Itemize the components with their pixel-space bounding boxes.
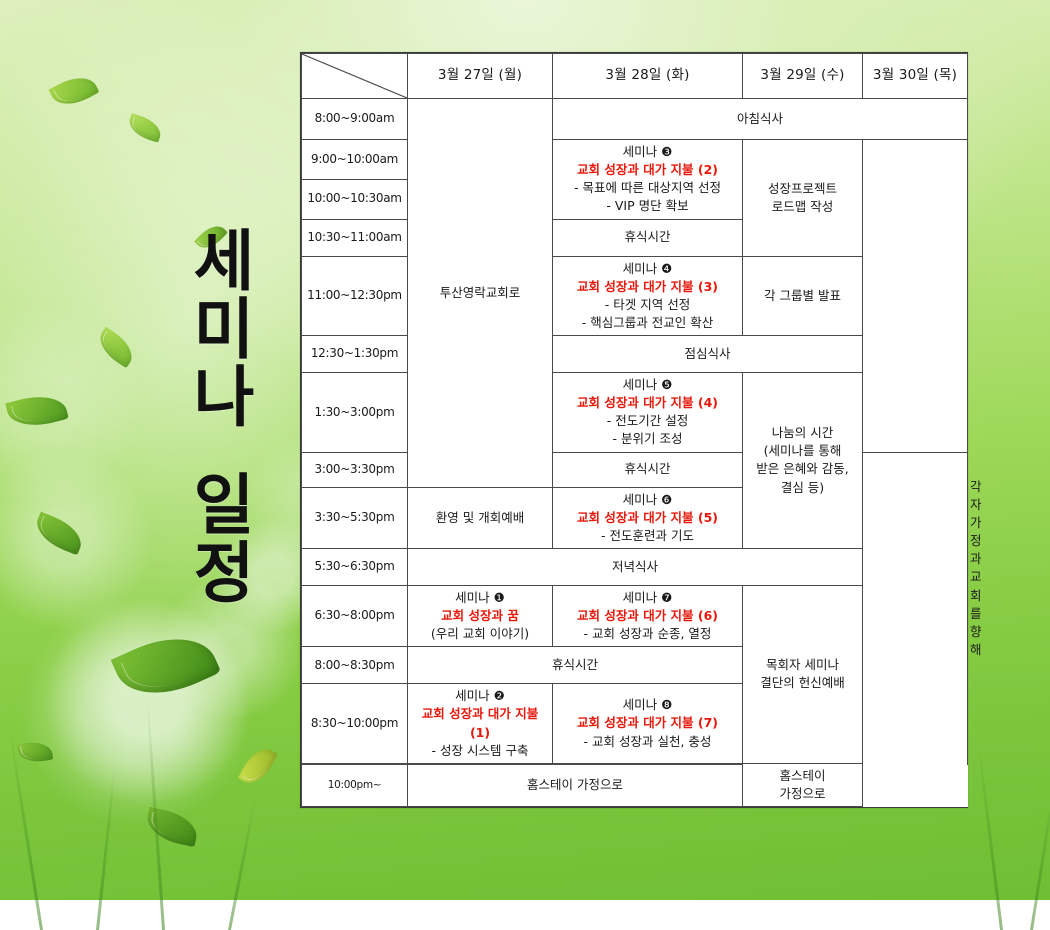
- seminar-8-point-1: - 교회 성장과 실천, 충성: [555, 733, 740, 751]
- page-title: 세 미 나 일 정: [168, 228, 280, 608]
- seminar-3-topic: 교회 성장과 대가 지불 (2): [555, 161, 740, 179]
- seminar-6-title: 세미나 ❻: [555, 491, 740, 509]
- column-header-wed: 3월 29일 (수): [743, 54, 863, 99]
- cell-seminar-4: 세미나 ❹ 교회 성장과 대가 지불 (3) - 타겟 지역 선정 - 핵심그룹…: [553, 256, 743, 336]
- cell-wed-sharing-time: 나눔의 시간 (세미나를 통해 받은 은혜와 감동, 결심 등): [743, 373, 863, 549]
- cell-thu-empty-top: [863, 140, 968, 453]
- time-label: 10:30~11:00am: [302, 219, 408, 256]
- table-row: 8:00~8:30pm 휴식시간: [302, 647, 968, 684]
- wed-pastor-line-2: 결단의 헌신예배: [745, 674, 860, 692]
- seminar-7-topic: 교회 성장과 대가 지불 (6): [555, 607, 740, 625]
- cell-break-800: 휴식시간: [408, 647, 743, 684]
- diagonal-line-icon: [302, 54, 407, 98]
- cell-seminar-8: 세미나 ❽ 교회 성장과 대가 지불 (7) - 교회 성장과 실천, 충성: [553, 684, 743, 764]
- time-label: 3:00~3:30pm: [302, 452, 408, 487]
- seminar-2-point-1: - 성장 시스템 구축: [410, 742, 550, 760]
- cell-wed-pastor-seminar: 목회자 세미나 결단의 헌신예배: [743, 585, 863, 763]
- seminar-5-point-2: - 분위기 조성: [555, 430, 740, 448]
- title-char: 정: [168, 540, 280, 608]
- seminar-2-topic: 교회 성장과 대가 지불 (1): [410, 705, 550, 741]
- wed-homestay-line-1: 홈스테이: [745, 767, 860, 785]
- cell-break-300: 휴식시간: [553, 452, 743, 487]
- table-header-row: 3월 27일 (월) 3월 28일 (화) 3월 29일 (수) 3월 30일 …: [302, 54, 968, 99]
- wed-homestay-line-2: 가정으로: [745, 785, 860, 803]
- seminar-6-point-1: - 전도훈련과 기도: [555, 527, 740, 545]
- cell-dinner: 저녁식사: [408, 548, 863, 585]
- cell-homestay-bottom: 홈스테이 가정으로: [408, 764, 743, 806]
- seminar-5-title: 세미나 ❺: [555, 376, 740, 394]
- cell-lunch: 점심식사: [553, 336, 863, 373]
- cell-wed-homestay: 홈스테이 가정으로: [743, 763, 863, 806]
- table-row: 3:30~5:30pm 환영 및 개회예배 세미나 ❻ 교회 성장과 대가 지불…: [302, 487, 968, 548]
- wed-sharing-line-3: 받은 은혜와 감동,: [745, 460, 860, 478]
- title-char: 세: [168, 228, 280, 296]
- time-label: 11:00~12:30pm: [302, 256, 408, 336]
- time-label: 10:00~10:30am: [302, 179, 408, 219]
- seminar-3-title: 세미나 ❸: [555, 143, 740, 161]
- seminar-6-topic: 교회 성장과 대가 지불 (5): [555, 509, 740, 527]
- table-row: 6:30~8:00pm 세미나 ❶ 교회 성장과 꿈 (우리 교회 이야기) 세…: [302, 585, 968, 646]
- cell-breakfast: 아침식사: [553, 99, 968, 140]
- cell-break-1030: 휴식시간: [553, 219, 743, 256]
- cell-seminar-6: 세미나 ❻ 교회 성장과 대가 지불 (5) - 전도훈련과 기도: [553, 487, 743, 548]
- cell-welcome-service: 환영 및 개회예배: [408, 487, 553, 548]
- title-spacer: [168, 432, 280, 472]
- seminar-4-point-2: - 핵심그룹과 전교인 확산: [555, 314, 740, 332]
- wed-sharing-line-4: 결심 등): [745, 479, 860, 497]
- wed-pastor-line-1: 목회자 세미나: [745, 656, 860, 674]
- seminar-5-point-1: - 전도기간 설정: [555, 412, 740, 430]
- time-label: 1:30~3:00pm: [302, 373, 408, 453]
- seminar-4-point-1: - 타겟 지역 선정: [555, 296, 740, 314]
- cell-seminar-5: 세미나 ❺ 교회 성장과 대가 지불 (4) - 전도기간 설정 - 분위기 조…: [553, 373, 743, 453]
- time-label: 6:30~8:00pm: [302, 585, 408, 646]
- time-label: 8:00~8:30pm: [302, 647, 408, 684]
- wed-sharing-line-2: (세미나를 통해: [745, 442, 860, 460]
- cell-wed-group-presentation: 각 그룹별 발표: [743, 256, 863, 336]
- title-char: 나: [168, 364, 280, 432]
- seminar-3-point-1: - 목표에 따른 대상지역 선정: [555, 179, 740, 197]
- schedule-table: 3월 27일 (월) 3월 28일 (화) 3월 29일 (수) 3월 30일 …: [301, 53, 968, 807]
- cell-wed-roadmap: 성장프로젝트 로드맵 작성: [743, 140, 863, 257]
- wed-sharing-line-1: 나눔의 시간: [745, 424, 860, 442]
- seminar-1-topic: 교회 성장과 꿈: [410, 607, 550, 625]
- title-char: 미: [168, 296, 280, 364]
- cell-seminar-7: 세미나 ❼ 교회 성장과 대가 지불 (6) - 교회 성장과 순종, 열정: [553, 585, 743, 646]
- seminar-5-topic: 교회 성장과 대가 지불 (4): [555, 394, 740, 412]
- seminar-8-title: 세미나 ❽: [555, 696, 740, 714]
- time-label: 3:30~5:30pm: [302, 487, 408, 548]
- seminar-2-title: 세미나 ❷: [410, 687, 550, 705]
- table-row: 5:30~6:30pm 저녁식사: [302, 548, 968, 585]
- time-label: 10:00pm~: [302, 764, 408, 806]
- seminar-8-topic: 교회 성장과 대가 지불 (7): [555, 714, 740, 732]
- seminar-1-point-1: (우리 교회 이야기): [410, 625, 550, 643]
- time-label: 5:30~6:30pm: [302, 548, 408, 585]
- table-row: 9:00~10:00am 세미나 ❸ 교회 성장과 대가 지불 (2) - 목표…: [302, 140, 968, 180]
- column-header-tue: 3월 28일 (화): [553, 54, 743, 99]
- wed-roadmap-line-2: 로드맵 작성: [745, 198, 860, 216]
- cell-monday-travel: 투산영락교회로: [408, 99, 553, 488]
- time-label: 8:30~10:00pm: [302, 684, 408, 764]
- cell-seminar-2: 세미나 ❷ 교회 성장과 대가 지불 (1) - 성장 시스템 구축: [408, 684, 553, 764]
- schedule-sheet: 3월 27일 (월) 3월 28일 (화) 3월 29일 (수) 3월 30일 …: [300, 52, 968, 808]
- cell-seminar-3: 세미나 ❸ 교회 성장과 대가 지불 (2) - 목표에 따른 대상지역 선정 …: [553, 140, 743, 220]
- table-row: 3:00~3:30pm 휴식시간: [302, 452, 968, 487]
- column-header-thu: 3월 30일 (목): [863, 54, 968, 99]
- table-row: 8:00~9:00am 투산영락교회로 아침식사: [302, 99, 968, 140]
- seminar-7-title: 세미나 ❼: [555, 589, 740, 607]
- seminar-1-title: 세미나 ❶: [410, 589, 550, 607]
- time-label: 8:00~9:00am: [302, 99, 408, 140]
- seminar-4-title: 세미나 ❹: [555, 260, 740, 278]
- wed-roadmap-line-1: 성장프로젝트: [745, 180, 860, 198]
- seminar-3-point-2: - VIP 명단 확보: [555, 197, 740, 215]
- table-row: 8:30~10:00pm 세미나 ❷ 교회 성장과 대가 지불 (1) - 성장…: [302, 684, 968, 764]
- seminar-4-topic: 교회 성장과 대가 지불 (3): [555, 278, 740, 296]
- column-header-mon: 3월 27일 (월): [408, 54, 553, 99]
- time-label: 9:00~10:00am: [302, 140, 408, 180]
- time-label: 12:30~1:30pm: [302, 336, 408, 373]
- seminar-7-point-1: - 교회 성장과 순종, 열정: [555, 625, 740, 643]
- table-row: 10:00pm~ 홈스테이 가정으로: [302, 764, 968, 806]
- cell-seminar-1: 세미나 ❶ 교회 성장과 꿈 (우리 교회 이야기): [408, 585, 553, 646]
- corner-cell-diagonal: [302, 54, 408, 99]
- title-char: 일: [168, 472, 280, 540]
